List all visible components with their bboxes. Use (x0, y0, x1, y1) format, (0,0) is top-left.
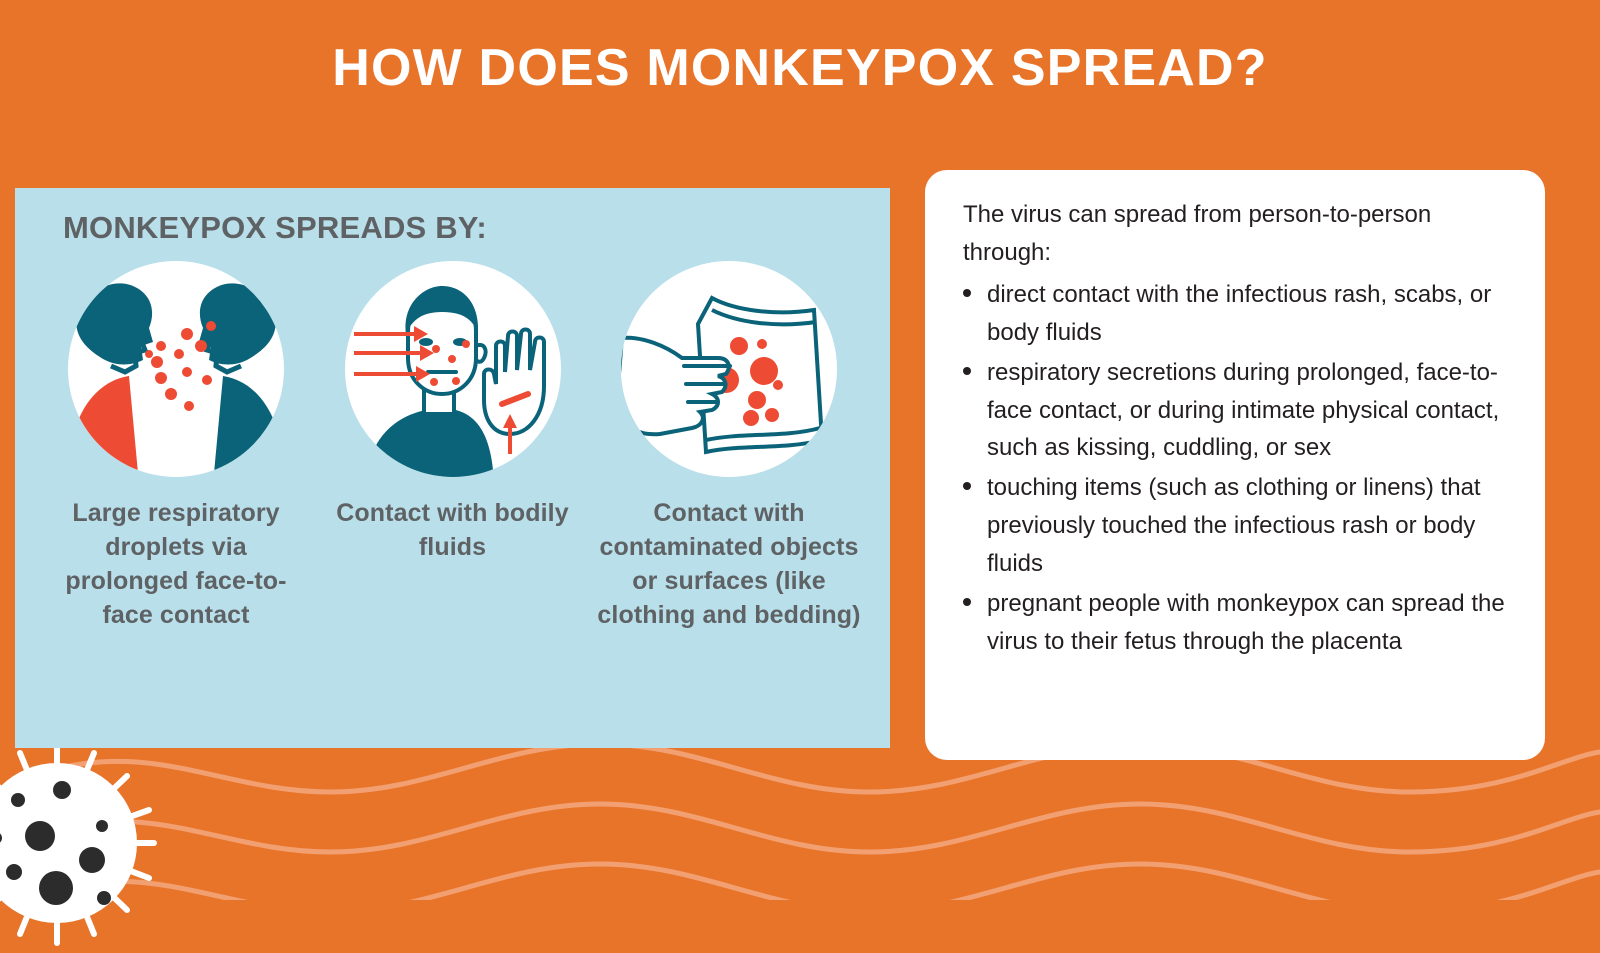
list-item-text: respiratory secretions during prolonged,… (987, 359, 1499, 462)
wave-pattern-icon (0, 740, 1600, 900)
transmission-info-card: The virus can spread from person-to-pers… (925, 170, 1545, 760)
monkeypox-spreads-panel: MONKEYPOX SPREADS BY: (15, 188, 890, 748)
page-title: HOW DOES MONKEYPOX SPREAD? (0, 38, 1600, 98)
card-intro-text: The virus can spread from person-to-pers… (963, 196, 1519, 272)
transmission-bullet-list: direct contact with the infectious rash,… (955, 276, 1519, 661)
virus-particle-icon (0, 738, 162, 948)
bullet-dot-icon (963, 289, 971, 297)
bullet-dot-icon (963, 598, 971, 606)
spread-method-item: Large respiratory droplets via prolonged… (41, 254, 311, 632)
list-item: pregnant people with monkeypox can sprea… (955, 585, 1519, 661)
spread-method-item: Contact with bodily fluids (318, 254, 588, 564)
bullet-dot-icon (963, 367, 971, 375)
list-item: touching items (such as clothing or line… (955, 469, 1519, 583)
bullet-dot-icon (963, 482, 971, 490)
two-people-talking-droplets-icon (61, 254, 291, 484)
spread-method-item: Contact with contaminated objects or sur… (594, 254, 864, 632)
list-item-text: pregnant people with monkeypox can sprea… (987, 590, 1505, 655)
hands-touching-contaminated-cloth-icon (614, 254, 844, 484)
list-item: direct contact with the infectious rash,… (955, 276, 1519, 352)
face-and-raised-hand-icon (338, 254, 568, 484)
spread-method-caption: Contact with bodily fluids (318, 496, 588, 564)
list-item-text: direct contact with the infectious rash,… (987, 281, 1491, 346)
spread-method-caption: Contact with contaminated objects or sur… (594, 496, 864, 632)
spread-method-caption: Large respiratory droplets via prolonged… (41, 496, 311, 632)
panel-heading: MONKEYPOX SPREADS BY: (63, 210, 864, 246)
list-item-text: touching items (such as clothing or line… (987, 474, 1481, 577)
spread-methods-row: Large respiratory droplets via prolonged… (41, 254, 864, 632)
list-item: respiratory secretions during prolonged,… (955, 354, 1519, 468)
